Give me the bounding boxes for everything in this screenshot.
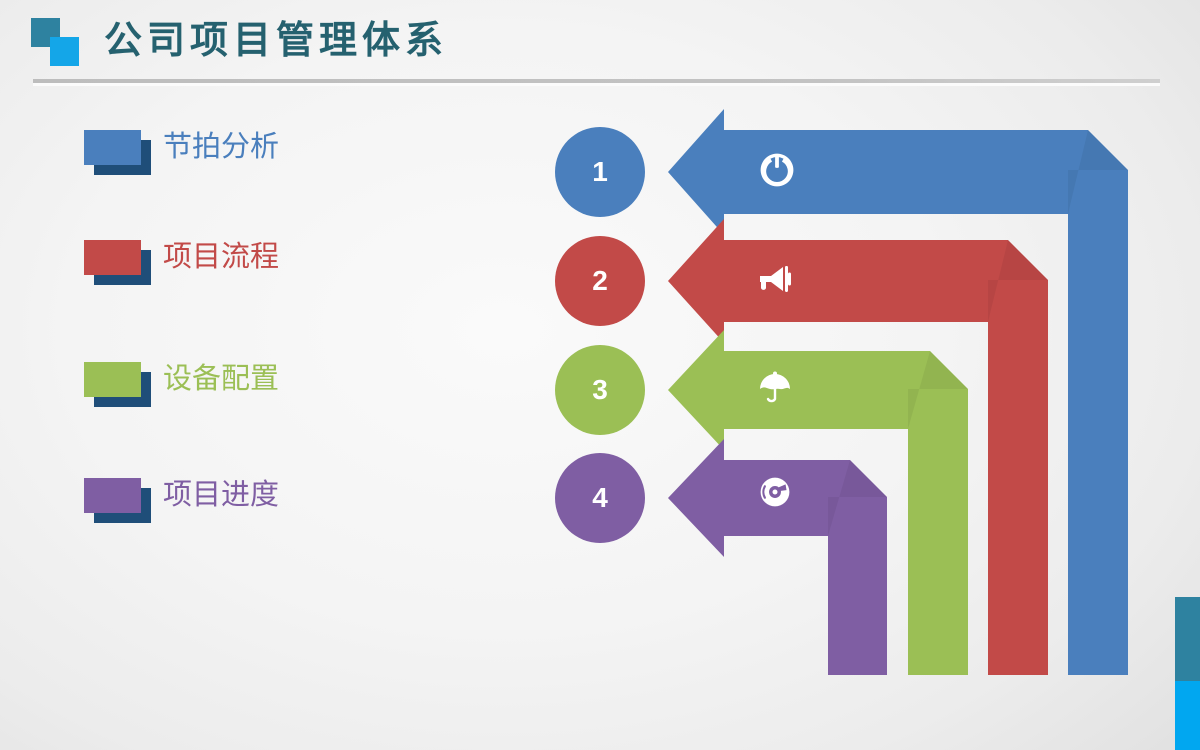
step-circle-3[interactable]: 3 xyxy=(555,345,645,435)
step-circle-2[interactable]: 2 xyxy=(555,236,645,326)
step-number-label: 3 xyxy=(592,374,608,406)
step-circle-4[interactable]: 4 xyxy=(555,453,645,543)
slide-canvas: 公司项目管理体系 节拍分析 项目流程 设备配置 项目进度 1234 xyxy=(0,0,1200,750)
step-number-label: 2 xyxy=(592,265,608,297)
right-edge-decoration-top xyxy=(1175,597,1200,681)
step-circle-1[interactable]: 1 xyxy=(555,127,645,217)
right-edge-decoration-bottom xyxy=(1175,681,1200,750)
step-number-label: 4 xyxy=(592,482,608,514)
step-number-label: 1 xyxy=(592,156,608,188)
